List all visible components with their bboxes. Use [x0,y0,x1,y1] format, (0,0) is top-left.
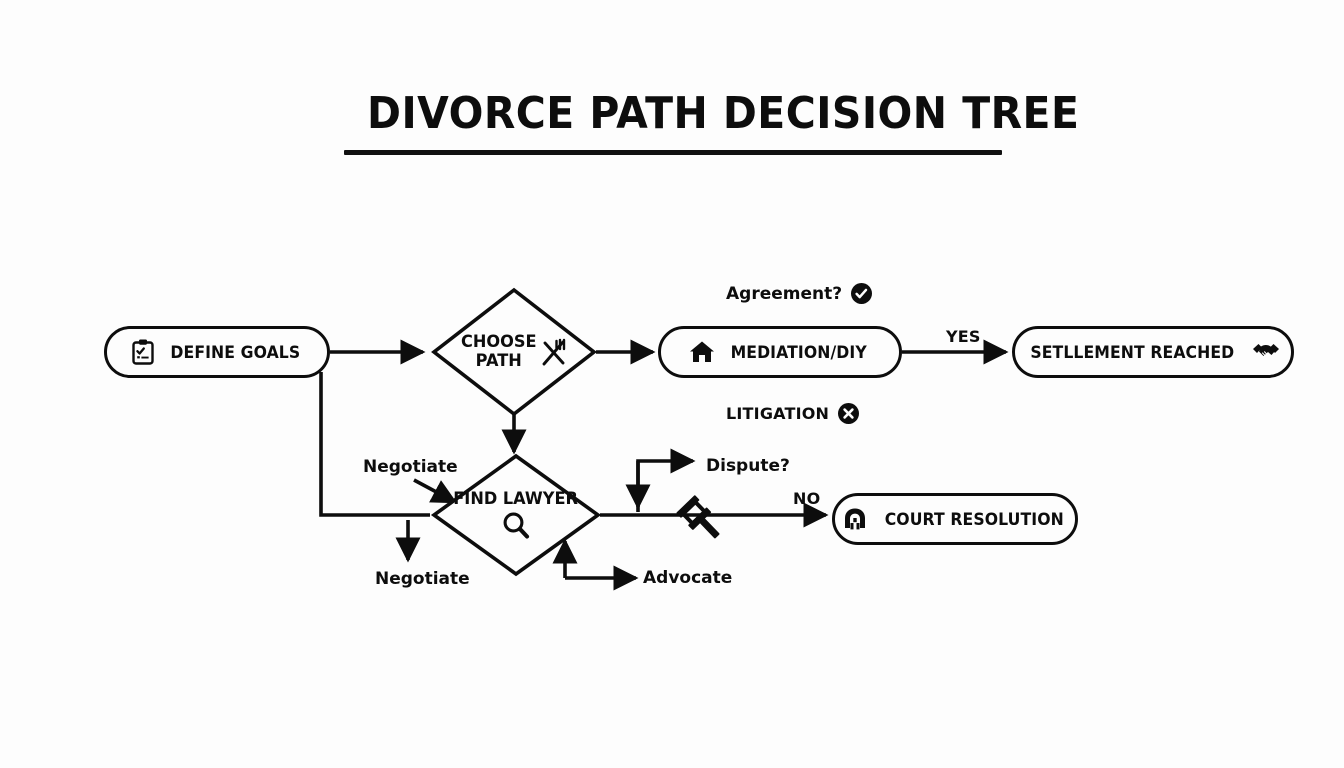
edge-define-goals-to-find-lawyer [321,372,430,515]
branch-label-yes: YES [946,327,981,346]
branch-label-dispute: Dispute? [706,456,790,476]
house-icon [689,340,715,364]
magnifier-icon [501,510,531,540]
node-label-choose-path: CHOOSE PATH [461,333,536,371]
gavel-icon [672,492,726,544]
node-court-resolution[interactable]: COURT RESOLUTION [832,493,1078,545]
node-settlement-reached[interactable]: SETLLEMENT REACHED [1012,326,1294,378]
handshake-icon [1251,340,1281,364]
courthouse-icon [842,506,868,532]
fork-crossroads-icon [539,336,569,368]
check-circle-icon [851,283,872,304]
title-block: DIVORCE PATH DECISION TREE [344,92,1002,155]
diagram-canvas: DIVORCE PATH DECISION TREE [0,0,1344,768]
node-label-court-resolution: COURT RESOLUTION [884,510,1063,529]
branch-label-agreement-text: Agreement? [726,284,842,304]
title-underline-rule [344,150,1002,155]
node-label-define-goals: DEFINE GOALS [170,343,300,362]
page-title: DIVORCE PATH DECISION TREE [367,92,979,136]
node-mediation-diy[interactable]: MEDIATION/DIY [658,326,902,378]
node-label-mediation-diy: MEDIATION/DIY [731,343,867,362]
branch-label-negotiate-lower: Negotiate [375,569,470,589]
branch-label-litigation: LITIGATION [726,403,859,424]
choose-path-content: CHOOSE PATH [430,286,598,418]
node-label-settlement-reached: SETLLEMENT REACHED [1030,343,1234,362]
x-circle-icon [838,403,859,424]
branch-label-agreement: Agreement? [726,283,872,304]
node-choose-path[interactable]: CHOOSE PATH [430,286,598,418]
branch-label-negotiate-upper: Negotiate [363,457,458,477]
node-label-find-lawyer: FIND LAWYER [454,490,579,509]
branch-label-litigation-text: LITIGATION [726,404,829,423]
node-define-goals[interactable]: DEFINE GOALS [104,326,330,378]
branch-label-no: NO [793,489,820,508]
branch-label-advocate: Advocate [643,568,732,588]
clipboard-check-icon [131,339,155,365]
